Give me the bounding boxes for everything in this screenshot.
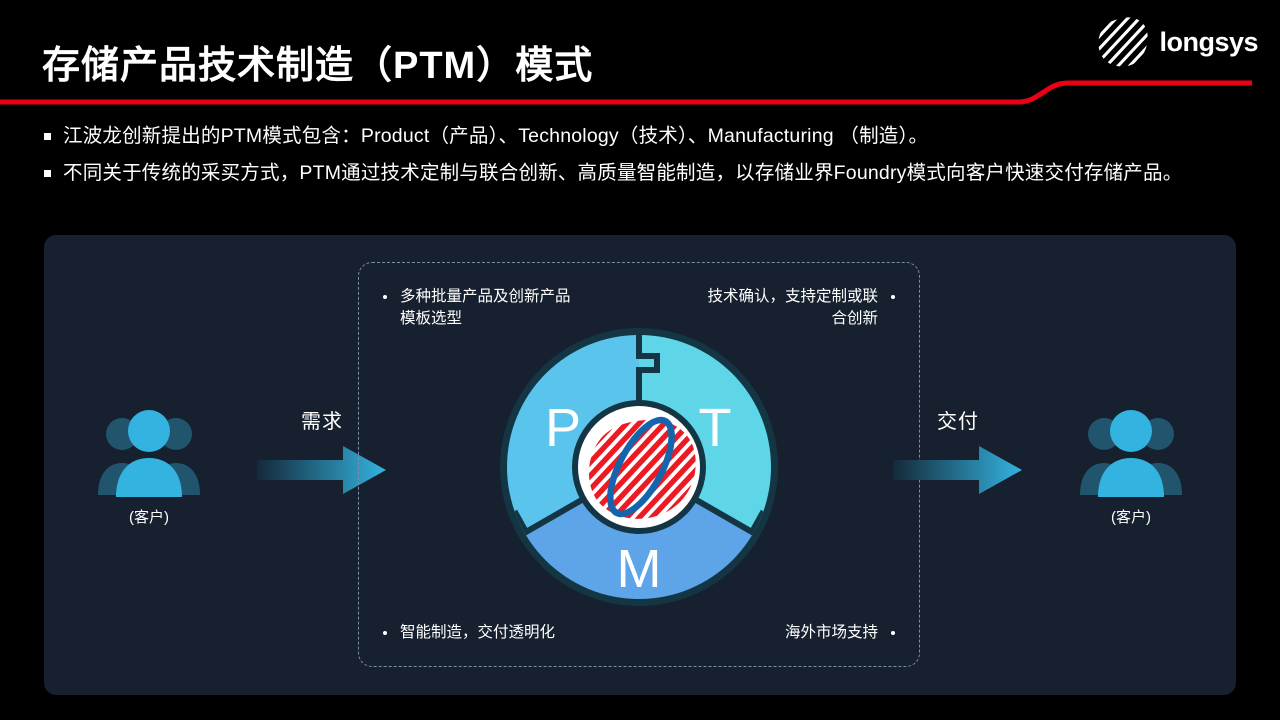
square-bullet-icon (44, 133, 51, 140)
customer-right: (客户) (1046, 407, 1216, 527)
dot-icon (891, 631, 895, 635)
dot-icon (383, 295, 387, 299)
bullet-item-2: 不同关于传统的采买方式，PTM通过技术定制与联合创新、高质量智能制造，以存储业界… (44, 159, 1249, 187)
label-bottom-right: 海外市场支持 (785, 622, 895, 644)
arrow-right-icon (893, 444, 1023, 496)
longsys-hatch-mark-icon (1095, 16, 1151, 68)
people-icon (1076, 407, 1186, 499)
square-bullet-icon (44, 170, 51, 177)
bullet-item-1: 江波龙创新提出的PTM模式包含：Product（产品）、Technology（技… (44, 122, 1249, 150)
label-bottom-right-text: 海外市场支持 (785, 622, 878, 644)
page-title: 存储产品技术制造（PTM）模式 (42, 34, 593, 89)
dot-icon (891, 295, 895, 299)
deliver-flow: 交付 (870, 405, 1046, 501)
diagram-panel: (客户) 需求 多种批量产品及创新产品 模板选型 技术确认，支持定制或联 合创新 (44, 235, 1236, 695)
brand-logo: longsys (1095, 16, 1258, 68)
bullet-text-2: 不同关于传统的采买方式，PTM通过技术定制与联合创新、高质量智能制造，以存储业界… (63, 159, 1182, 187)
customer-left: (客户) (64, 407, 234, 527)
dot-icon (383, 631, 387, 635)
ptm-diagram-box: 多种批量产品及创新产品 模板选型 技术确认，支持定制或联 合创新 智能制造，交付… (358, 262, 920, 667)
customer-left-caption: (客户) (64, 506, 234, 527)
segment-letter-m: M (617, 539, 662, 599)
people-icon (94, 407, 204, 499)
label-bottom-left: 智能制造，交付透明化 (383, 622, 555, 644)
ptm-wheel: P T M (494, 322, 784, 612)
bullet-text-1: 江波龙创新提出的PTM模式包含：Product（产品）、Technology（技… (63, 122, 928, 150)
deliver-label: 交付 (870, 405, 1046, 434)
customer-right-caption: (客户) (1046, 506, 1216, 527)
label-bottom-left-text: 智能制造，交付透明化 (400, 622, 555, 644)
bullet-list: 江波龙创新提出的PTM模式包含：Product（产品）、Technology（技… (44, 122, 1249, 197)
logo-wordmark: longsys (1159, 27, 1258, 58)
